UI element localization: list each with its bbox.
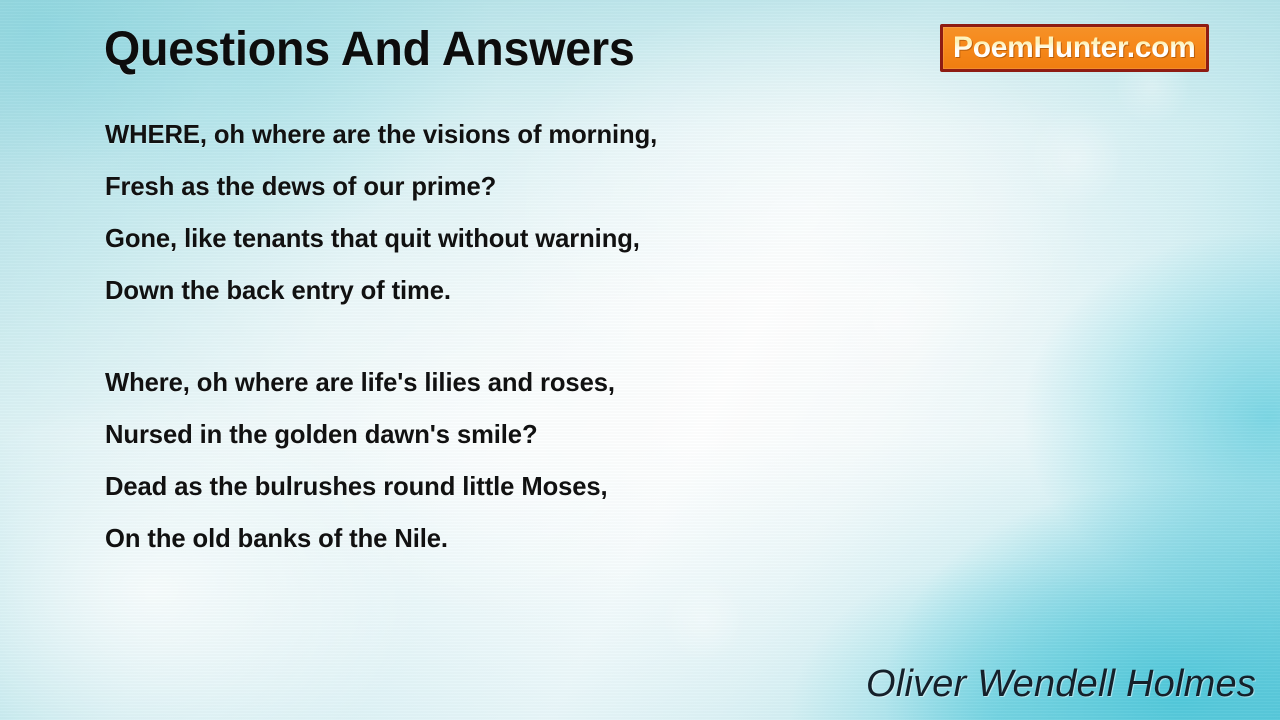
poem-line: Down the back entry of time. xyxy=(105,264,854,316)
poem-line: Where, oh where are life's lilies and ro… xyxy=(105,356,854,408)
poem-line: Fresh as the dews of our prime? xyxy=(105,160,854,212)
poem-card: Questions And Answers PoemHunter.com WHE… xyxy=(0,0,1280,720)
page-title: Questions And Answers xyxy=(104,22,635,77)
poem-line: WHERE, oh where are the visions of morni… xyxy=(105,108,854,160)
poem-line: Nursed in the golden dawn's smile? xyxy=(105,408,854,460)
poem-line: Dead as the bulrushes round little Moses… xyxy=(105,460,854,512)
poem-text: WHERE, oh where are the visions of morni… xyxy=(105,108,865,564)
poem-stanza: Where, oh where are life's lilies and ro… xyxy=(105,356,865,564)
author-name: Oliver Wendell Holmes xyxy=(866,663,1256,706)
poemhunter-logo-text: PoemHunter.com xyxy=(953,33,1196,63)
poem-line: Gone, like tenants that quit without war… xyxy=(105,212,854,264)
poem-stanza: WHERE, oh where are the visions of morni… xyxy=(105,108,865,316)
poem-line: On the old banks of the Nile. xyxy=(105,512,854,564)
poem-content: Questions And Answers PoemHunter.com WHE… xyxy=(0,0,1280,720)
poemhunter-logo[interactable]: PoemHunter.com xyxy=(940,24,1209,72)
